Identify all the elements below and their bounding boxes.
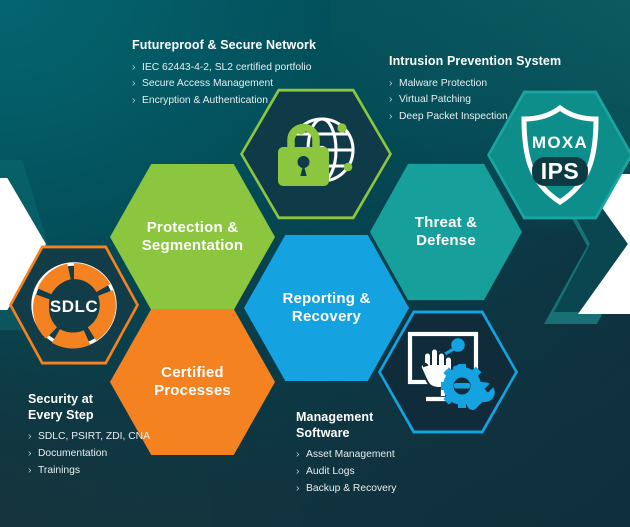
list-item: SDLC, PSIRT, ZDI, CNA bbox=[28, 429, 150, 446]
protection-line-1: Protection & bbox=[142, 219, 244, 237]
shield-brand-text: MOXA bbox=[532, 133, 588, 152]
list-item: Virtual Patching bbox=[389, 92, 561, 109]
callout-management-title: Management Software bbox=[296, 410, 396, 441]
list-item: Audit Logs bbox=[296, 464, 396, 481]
certified-line-1: Certified bbox=[154, 364, 231, 382]
security-title-line-2: Every Step bbox=[28, 408, 150, 424]
callout-secure-network-title: Futureproof & Secure Network bbox=[132, 38, 316, 54]
security-title-line-1: Security at bbox=[28, 392, 150, 408]
list-item: Backup & Recovery bbox=[296, 481, 396, 498]
callout-security-every-step: Security at Every Step SDLC, PSIRT, ZDI,… bbox=[28, 392, 150, 479]
list-item: Malware Protection bbox=[389, 76, 561, 93]
threat-line-1: Threat & bbox=[415, 214, 477, 232]
list-item: Deep Packet Inspection bbox=[389, 109, 561, 126]
certified-processes-label: Certified Processes bbox=[144, 364, 241, 399]
reporting-line-1: Reporting & bbox=[282, 290, 370, 308]
globe-padlock-icon bbox=[264, 104, 368, 204]
infographic-canvas: MOXA IPS SDLC bbox=[0, 0, 630, 527]
shield-product-text: IPS bbox=[541, 158, 580, 184]
list-item: Asset Management bbox=[296, 447, 396, 464]
callout-ips-title: Intrusion Prevention System bbox=[389, 54, 561, 70]
callout-ips: Intrusion Prevention System Malware Prot… bbox=[389, 54, 561, 126]
list-item: IEC 62443-4-2, SL2 certified portfolio bbox=[132, 60, 316, 77]
management-title-line-2: Software bbox=[296, 426, 396, 442]
callout-management-software: Management Software Asset Management Aud… bbox=[296, 410, 396, 497]
list-item: Trainings bbox=[28, 463, 150, 480]
certified-line-2: Processes bbox=[154, 382, 231, 400]
monitor-gear-icon bbox=[400, 326, 496, 418]
callout-management-list: Asset Management Audit Logs Backup & Rec… bbox=[296, 447, 396, 497]
padlock-shape bbox=[278, 128, 329, 187]
callout-secure-network-list: IEC 62443-4-2, SL2 certified portfolio S… bbox=[132, 60, 316, 110]
sdlc-lifecycle-icon: SDLC bbox=[22, 253, 126, 357]
list-item: Documentation bbox=[28, 446, 150, 463]
threat-line-2: Defense bbox=[415, 232, 477, 250]
protection-segmentation-label: Protection & Segmentation bbox=[132, 219, 254, 254]
protection-line-2: Segmentation bbox=[142, 237, 244, 255]
callout-secure-network: Futureproof & Secure Network IEC 62443-4… bbox=[132, 38, 316, 110]
reporting-line-2: Recovery bbox=[282, 308, 370, 326]
callout-ips-list: Malware Protection Virtual Patching Deep… bbox=[389, 76, 561, 126]
list-item: Secure Access Management bbox=[132, 76, 316, 93]
callout-security-list: SDLC, PSIRT, ZDI, CNA Documentation Trai… bbox=[28, 429, 150, 479]
list-item: Encryption & Authentication bbox=[132, 93, 316, 110]
threat-defense-label: Threat & Defense bbox=[405, 214, 487, 249]
callout-security-title: Security at Every Step bbox=[28, 392, 150, 423]
management-title-line-1: Management bbox=[296, 410, 396, 426]
sdlc-label: SDLC bbox=[50, 297, 98, 316]
reporting-recovery-label: Reporting & Recovery bbox=[272, 290, 380, 325]
